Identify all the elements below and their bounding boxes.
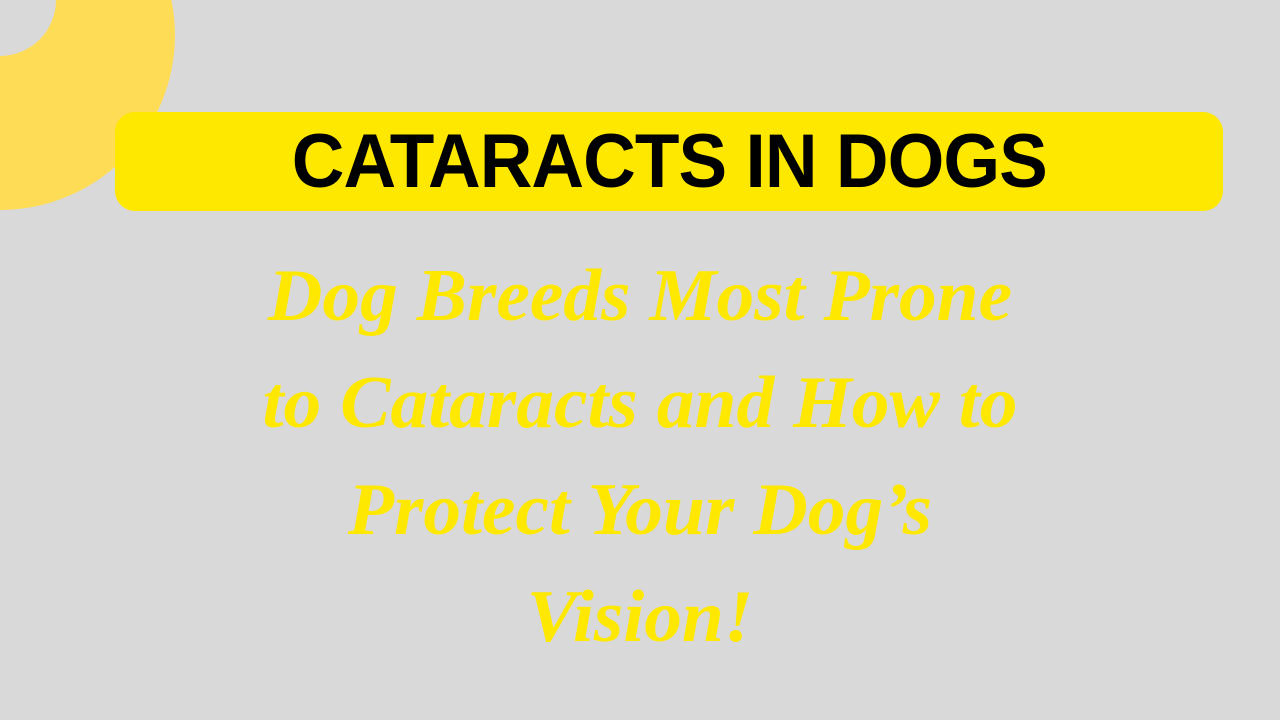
title-banner: CATARACTS IN DOGS <box>115 112 1223 211</box>
subtitle-line-2: to Cataracts and How to <box>140 350 1140 457</box>
subtitle-line-1: Dog Breeds Most Prone <box>140 243 1140 350</box>
subtitle-line-3: Protect Your Dog’s <box>140 457 1140 564</box>
subtitle-block: Dog Breeds Most Prone to Cataracts and H… <box>150 243 1130 671</box>
subtitle-line-4: Vision! <box>140 564 1140 671</box>
poster-canvas: CATARACTS IN DOGS Dog Breeds Most Prone … <box>0 0 1280 720</box>
page-title: CATARACTS IN DOGS <box>291 124 1046 200</box>
